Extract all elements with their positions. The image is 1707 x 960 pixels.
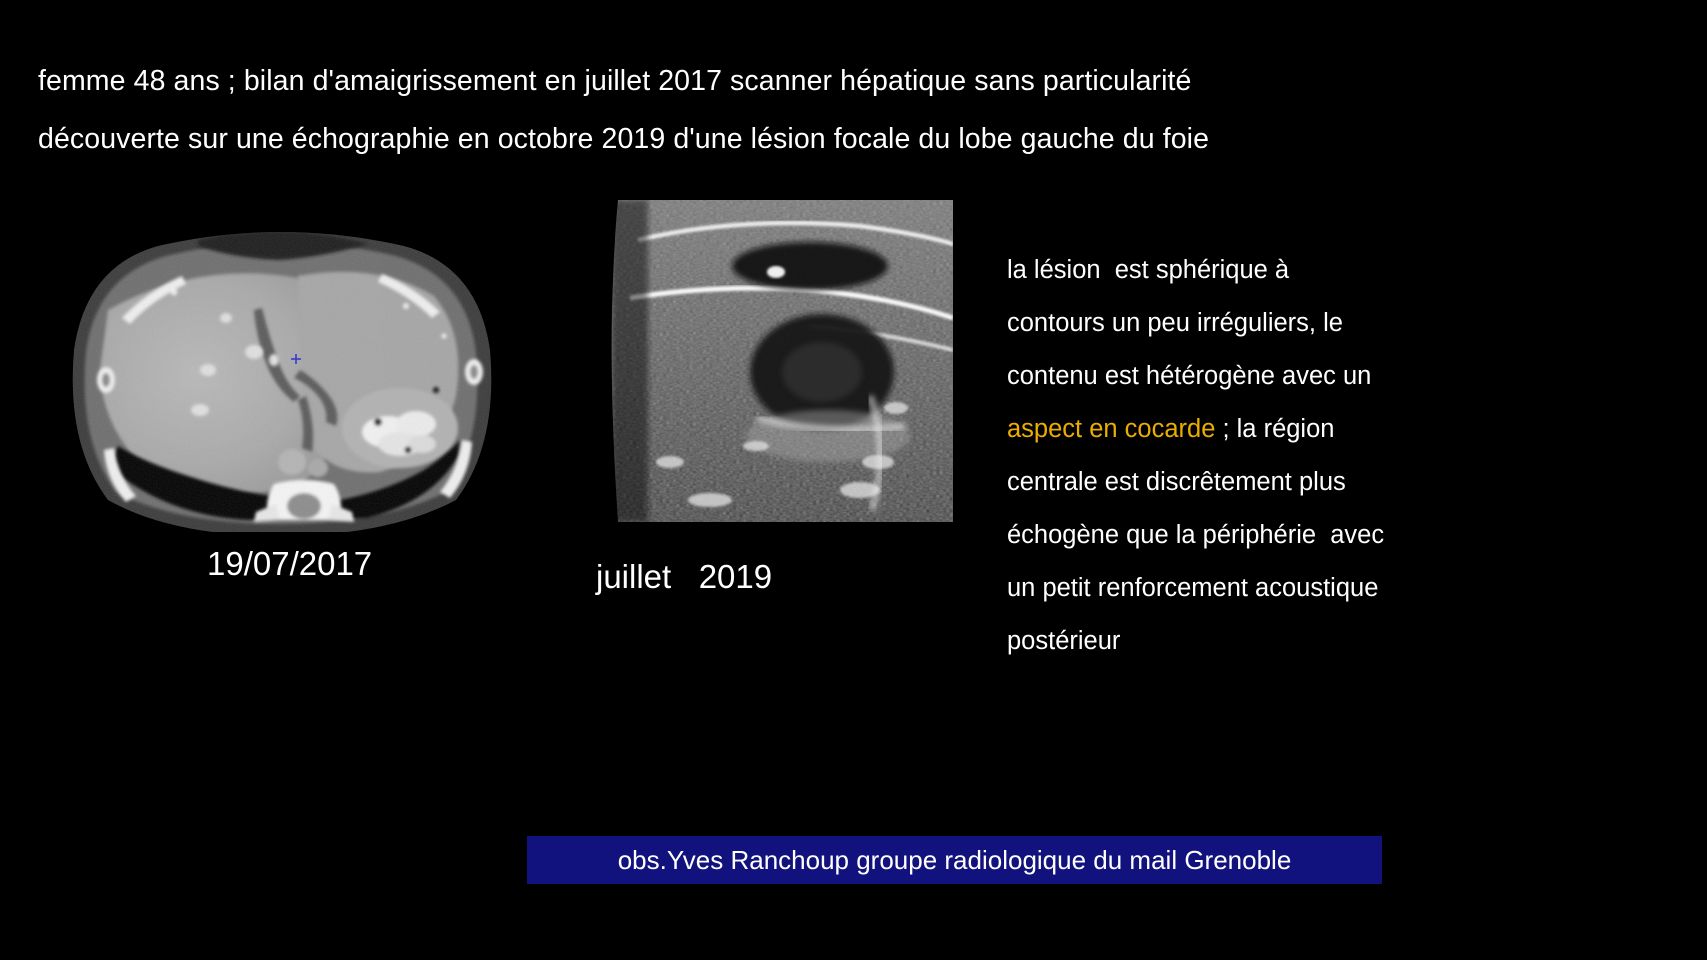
header-line-1: femme 48 ans ; bilan d'amaigrissement en… — [38, 52, 1638, 110]
credit-banner: obs.Yves Ranchoup groupe radiologique du… — [527, 836, 1382, 884]
ultrasound-caption: juillet 2019 — [596, 558, 772, 596]
presentation-slide: femme 48 ans ; bilan d'amaigrissement en… — [0, 0, 1707, 960]
description-line-3: contenu est hétérogène avec un — [1007, 350, 1477, 403]
lesion-description-block: la lésion est sphérique à contours un pe… — [1007, 244, 1477, 668]
description-line-2: contours un peu irréguliers, le — [1007, 297, 1477, 350]
credit-text: obs.Yves Ranchoup groupe radiologique du… — [618, 845, 1292, 875]
ct-scan-graphic — [48, 200, 512, 532]
ct-scan-image — [48, 200, 512, 532]
header-text-block: femme 48 ans ; bilan d'amaigrissement en… — [38, 52, 1638, 168]
description-line-5: centrale est discrêtement plus — [1007, 456, 1477, 509]
ultrasound-image — [560, 200, 953, 522]
description-line-6: échogène que la périphérie avec — [1007, 509, 1477, 562]
header-line-2: découverte sur une échographie en octobr… — [38, 110, 1638, 168]
highlight-aspect-en-cocarde: aspect en cocarde — [1007, 415, 1215, 443]
description-line-1: la lésion est sphérique à — [1007, 244, 1477, 297]
description-line-4: aspect en cocarde ; la région — [1007, 403, 1477, 456]
description-line-7: un petit renforcement acoustique — [1007, 562, 1477, 615]
description-line-4-rest: ; la région — [1215, 415, 1334, 443]
ultrasound-graphic — [560, 200, 953, 522]
description-line-8: postérieur — [1007, 615, 1477, 668]
ct-caption: 19/07/2017 — [207, 545, 372, 583]
